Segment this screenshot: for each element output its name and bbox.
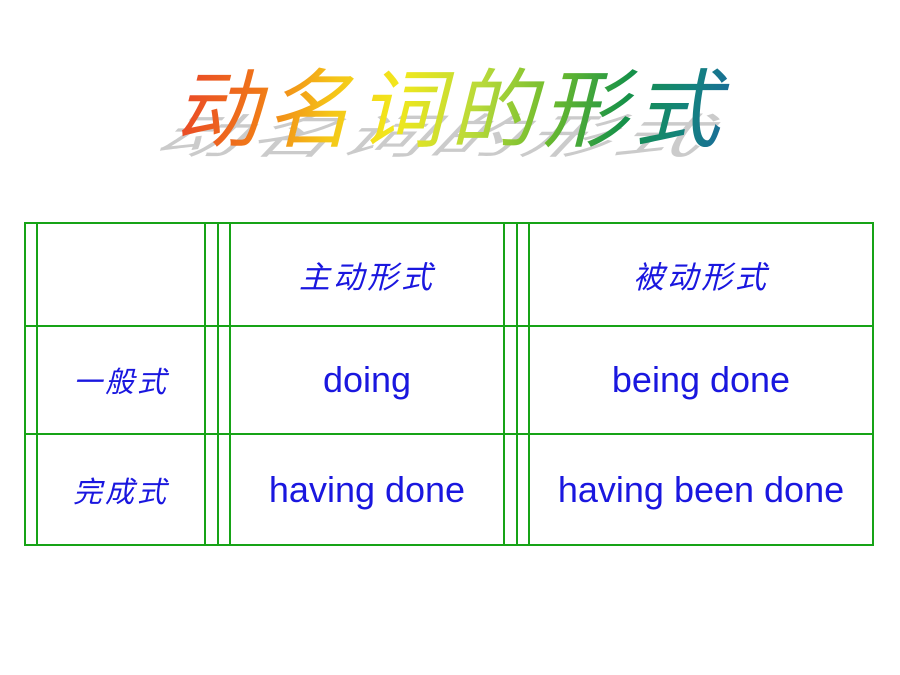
gerund-forms-table: 主动形式 被动形式 一般式 doing <box>24 222 874 546</box>
table-row: 完成式 having done having been done <box>25 434 873 545</box>
page-title: 动名词的形式 动名词的形式 <box>0 58 900 188</box>
row1-gap-cell-a <box>205 326 218 434</box>
header-gap-cell-a <box>205 223 218 326</box>
row2-gap-cell-a <box>205 434 218 545</box>
row2-gap-cell-d <box>517 434 529 545</box>
title-rainbow-text: 动名词的形式 <box>0 58 900 164</box>
row2-gap-cell-c <box>504 434 517 545</box>
header-label-passive-voice: 被动形式 <box>633 260 769 296</box>
row1-value-active: doing <box>231 358 503 402</box>
row2-cell-passive: having been done <box>529 434 873 545</box>
row1-gap-cell-d <box>517 326 529 434</box>
row1-cell-active: doing <box>230 326 504 434</box>
row2-value-passive: having been done <box>530 468 872 512</box>
row2-sliver-cell <box>25 434 37 545</box>
row1-value-passive: being done <box>530 358 872 402</box>
row1-gap-cell-c <box>504 326 517 434</box>
row1-sliver-cell <box>25 326 37 434</box>
row1-gap-cell-b <box>218 326 230 434</box>
row2-label-cell: 完成式 <box>37 434 205 545</box>
row2-cell-active: having done <box>230 434 504 545</box>
row1-label-cell: 一般式 <box>37 326 205 434</box>
header-gap-cell-b <box>218 223 230 326</box>
header-label-active-voice: 主动形式 <box>299 260 435 296</box>
table-header-row: 主动形式 被动形式 <box>25 223 873 326</box>
row1-label-simple-form: 一般式 <box>73 365 169 399</box>
header-gap-cell-d <box>517 223 529 326</box>
header-cell-passive-voice: 被动形式 <box>529 223 873 326</box>
row2-gap-cell-b <box>218 434 230 545</box>
forms-table-wrapper: 主动形式 被动形式 一般式 doing <box>24 222 872 540</box>
slide-canvas: 动名词的形式 动名词的形式 <box>0 0 900 675</box>
row1-cell-passive: being done <box>529 326 873 434</box>
row2-value-active: having done <box>231 468 503 512</box>
row2-label-perfect-form: 完成式 <box>73 475 169 509</box>
header-sliver-cell <box>25 223 37 326</box>
header-cell-active-voice: 主动形式 <box>230 223 504 326</box>
header-gap-cell-c <box>504 223 517 326</box>
header-corner-cell <box>37 223 205 326</box>
table-row: 一般式 doing being done <box>25 326 873 434</box>
